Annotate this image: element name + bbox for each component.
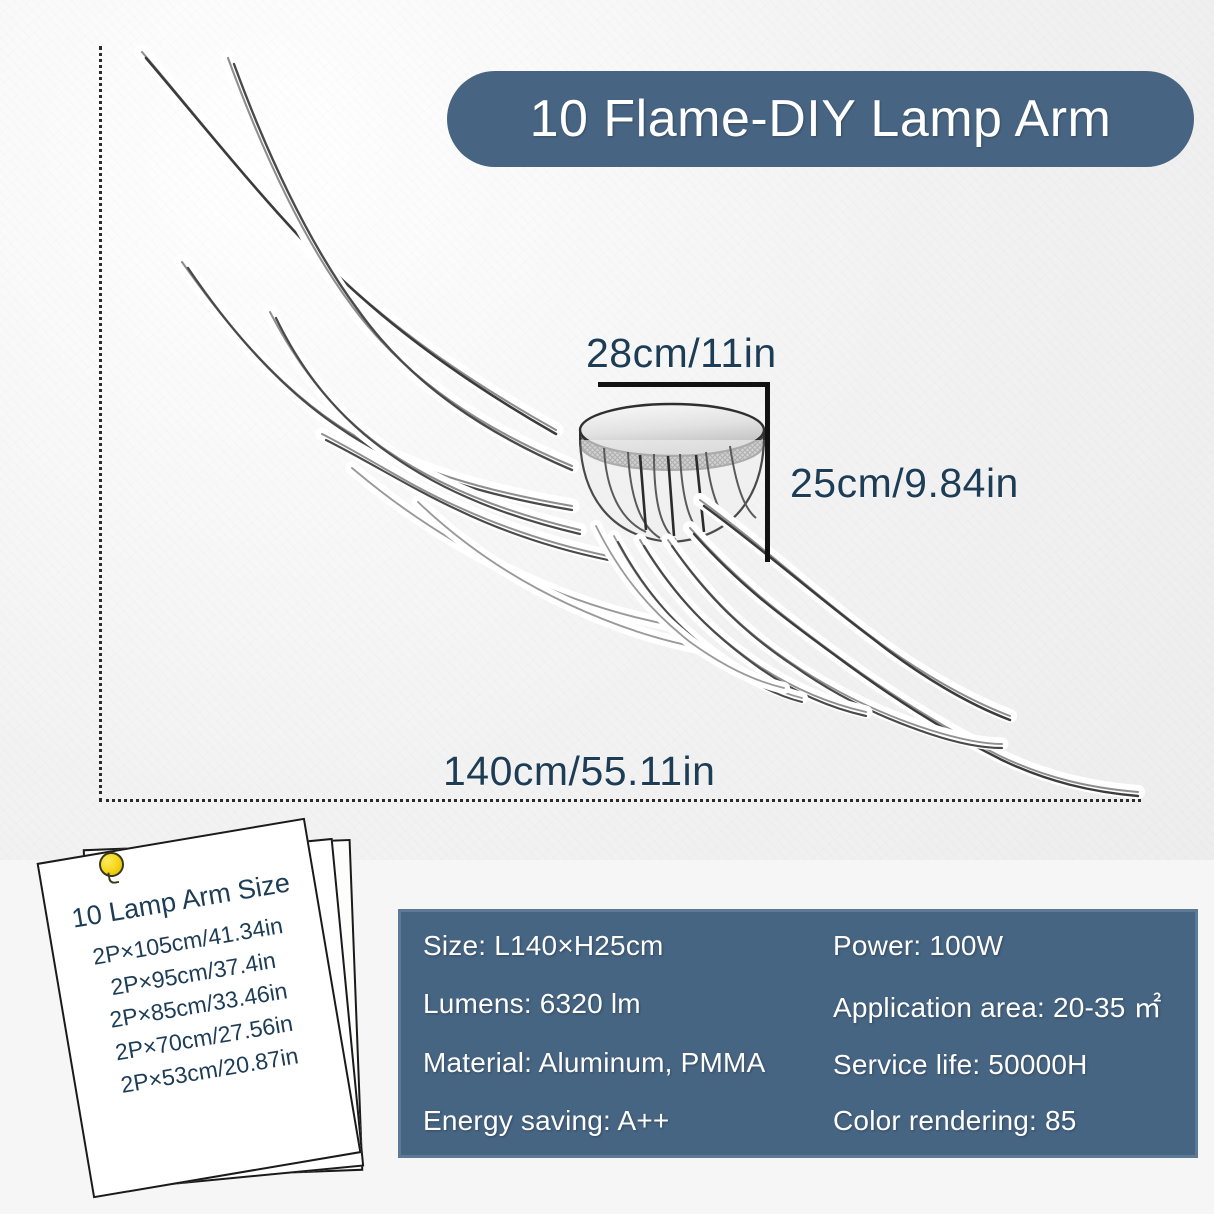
spec-item-size: Size: L140×H25cm <box>423 930 833 962</box>
spec-item-material: Material: Aluminum, PMMA <box>423 1047 833 1079</box>
spec-item-service-life: Service life: 50000H <box>833 1049 1193 1081</box>
dimension-label-length: 140cm/55.11in <box>443 748 715 795</box>
dimension-label-height: 25cm/9.84in <box>790 460 1019 507</box>
spec-column-left: Size: L140×H25cm Lumens: 6320 lm Materia… <box>423 930 833 1137</box>
spec-item-power: Power: 100W <box>833 930 1193 962</box>
spec-item-application-area: Application area: 20-35 ㎡ <box>833 986 1193 1026</box>
dimension-bracket-horizontal <box>598 382 770 387</box>
product-infographic: 28cm/11in 25cm/9.84in 140cm/55.11in 10 F… <box>0 0 1214 1214</box>
title-banner: 10 Flame-DIY Lamp Arm <box>447 71 1194 167</box>
specification-panel: Size: L140×H25cm Lumens: 6320 lm Materia… <box>398 909 1198 1158</box>
lamp-arm-size-note: 10 Lamp Arm Size 2P×105cm/41.34in 2P×95c… <box>55 828 395 1200</box>
spec-item-color-rendering: Color rendering: 85 <box>833 1105 1193 1137</box>
page-title: 10 Flame-DIY Lamp Arm <box>530 89 1112 149</box>
spec-item-energy-saving: Energy saving: A++ <box>423 1105 833 1137</box>
spec-item-lumens: Lumens: 6320 lm <box>423 988 833 1020</box>
spec-column-right: Power: 100W Application area: 20-35 ㎡ Se… <box>833 930 1193 1137</box>
dimension-bracket-vertical <box>765 382 770 562</box>
note-content: 10 Lamp Arm Size 2P×105cm/41.34in 2P×95c… <box>37 818 362 1199</box>
dimension-label-width-top: 28cm/11in <box>586 330 777 377</box>
